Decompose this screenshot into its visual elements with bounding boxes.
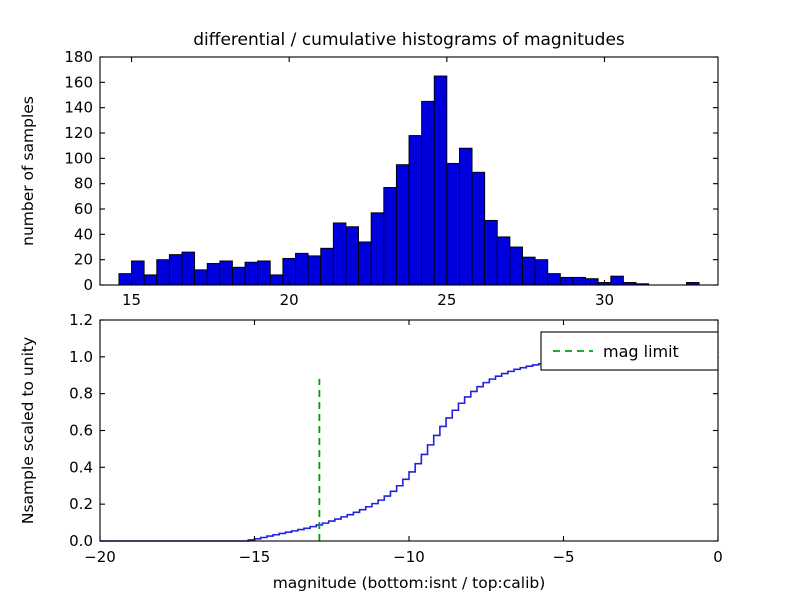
bottom-x-ticklabel: −5 bbox=[552, 548, 574, 566]
histogram-bar bbox=[535, 260, 548, 285]
bottom-y-ticklabel: 0.2 bbox=[69, 495, 93, 513]
top-y-ticklabel: 160 bbox=[64, 73, 93, 91]
bottom-y-ticklabel: 1.2 bbox=[69, 311, 93, 329]
top-x-ticklabel: 20 bbox=[280, 291, 299, 309]
top-y-ticklabel: 60 bbox=[74, 200, 93, 218]
histogram-bar bbox=[195, 270, 208, 285]
histogram-bar bbox=[560, 277, 573, 285]
histogram-bar bbox=[485, 220, 498, 285]
top-y-ticklabel: 40 bbox=[74, 225, 93, 243]
histogram-bar bbox=[523, 257, 536, 285]
histogram-bar bbox=[258, 261, 271, 285]
histogram-bar bbox=[434, 76, 447, 285]
top-y-ticklabel: 120 bbox=[64, 124, 93, 142]
histogram-bar bbox=[510, 247, 523, 285]
histogram-bar bbox=[207, 263, 220, 285]
histogram-bar bbox=[182, 252, 195, 285]
histogram-bar bbox=[472, 172, 485, 285]
histogram-bar bbox=[459, 148, 472, 285]
top-x-ticklabel: 30 bbox=[595, 291, 614, 309]
bottom-y-axis-label: Nsample scaled to unity bbox=[19, 337, 37, 524]
top-y-ticklabel: 80 bbox=[74, 175, 93, 193]
bottom-y-ticklabel: 0.6 bbox=[69, 422, 93, 440]
histogram-bar bbox=[346, 227, 359, 285]
bottom-y-ticklabel: 0.8 bbox=[69, 385, 93, 403]
histogram-bar bbox=[232, 267, 245, 285]
histogram-bar bbox=[157, 260, 170, 285]
top-y-ticklabel: 20 bbox=[74, 251, 93, 269]
bottom-x-ticklabel: −10 bbox=[393, 548, 425, 566]
histogram-bar bbox=[586, 279, 599, 285]
bottom-y-ticklabel: 0.4 bbox=[69, 458, 93, 476]
histogram-bar bbox=[220, 261, 233, 285]
figure-canvas: 02040608010012014016018015202530number o… bbox=[0, 0, 800, 600]
histogram-bar bbox=[308, 256, 321, 285]
histogram-bar bbox=[321, 248, 334, 285]
histogram-bar bbox=[295, 253, 308, 285]
bottom-x-ticklabel: 0 bbox=[713, 548, 723, 566]
cumulative-curve bbox=[100, 357, 718, 541]
top-y-ticklabel: 100 bbox=[64, 149, 93, 167]
histogram-bar bbox=[333, 223, 346, 285]
histogram-bar bbox=[245, 262, 258, 285]
histogram-bar bbox=[371, 213, 384, 285]
histogram-bar bbox=[119, 274, 132, 285]
top-x-ticklabel: 25 bbox=[437, 291, 456, 309]
histogram-bar bbox=[384, 187, 397, 285]
histogram-bar bbox=[270, 275, 283, 285]
bottom-x-axis-label: magnitude (bottom:isnt / top:calib) bbox=[273, 574, 546, 592]
histogram-bar bbox=[169, 255, 182, 285]
top-y-ticklabel: 180 bbox=[64, 48, 93, 66]
chart-title: differential / cumulative histograms of … bbox=[193, 30, 625, 50]
histogram-bar bbox=[573, 277, 586, 285]
top-x-ticklabel: 15 bbox=[122, 291, 141, 309]
histogram-bar bbox=[548, 274, 561, 285]
histogram-bar bbox=[144, 275, 157, 285]
histogram-bar bbox=[422, 101, 435, 285]
histogram-bar bbox=[497, 237, 510, 285]
matplotlib-figure: 02040608010012014016018015202530number o… bbox=[0, 0, 800, 600]
histogram-bar bbox=[611, 276, 624, 285]
histogram-bar bbox=[447, 163, 460, 285]
histogram-bar bbox=[359, 242, 372, 285]
bottom-y-ticklabel: 1.0 bbox=[69, 348, 93, 366]
top-y-ticklabel: 140 bbox=[64, 99, 93, 117]
top-y-ticklabel: 0 bbox=[83, 276, 93, 294]
histogram-bar bbox=[396, 165, 409, 285]
histogram-bar bbox=[409, 136, 422, 285]
top-y-axis-label: number of samples bbox=[19, 96, 37, 246]
bottom-x-ticklabel: −15 bbox=[239, 548, 271, 566]
legend-label-mag-limit: mag limit bbox=[603, 342, 679, 361]
histogram-bar bbox=[132, 261, 145, 285]
bottom-x-ticklabel: −20 bbox=[84, 548, 116, 566]
